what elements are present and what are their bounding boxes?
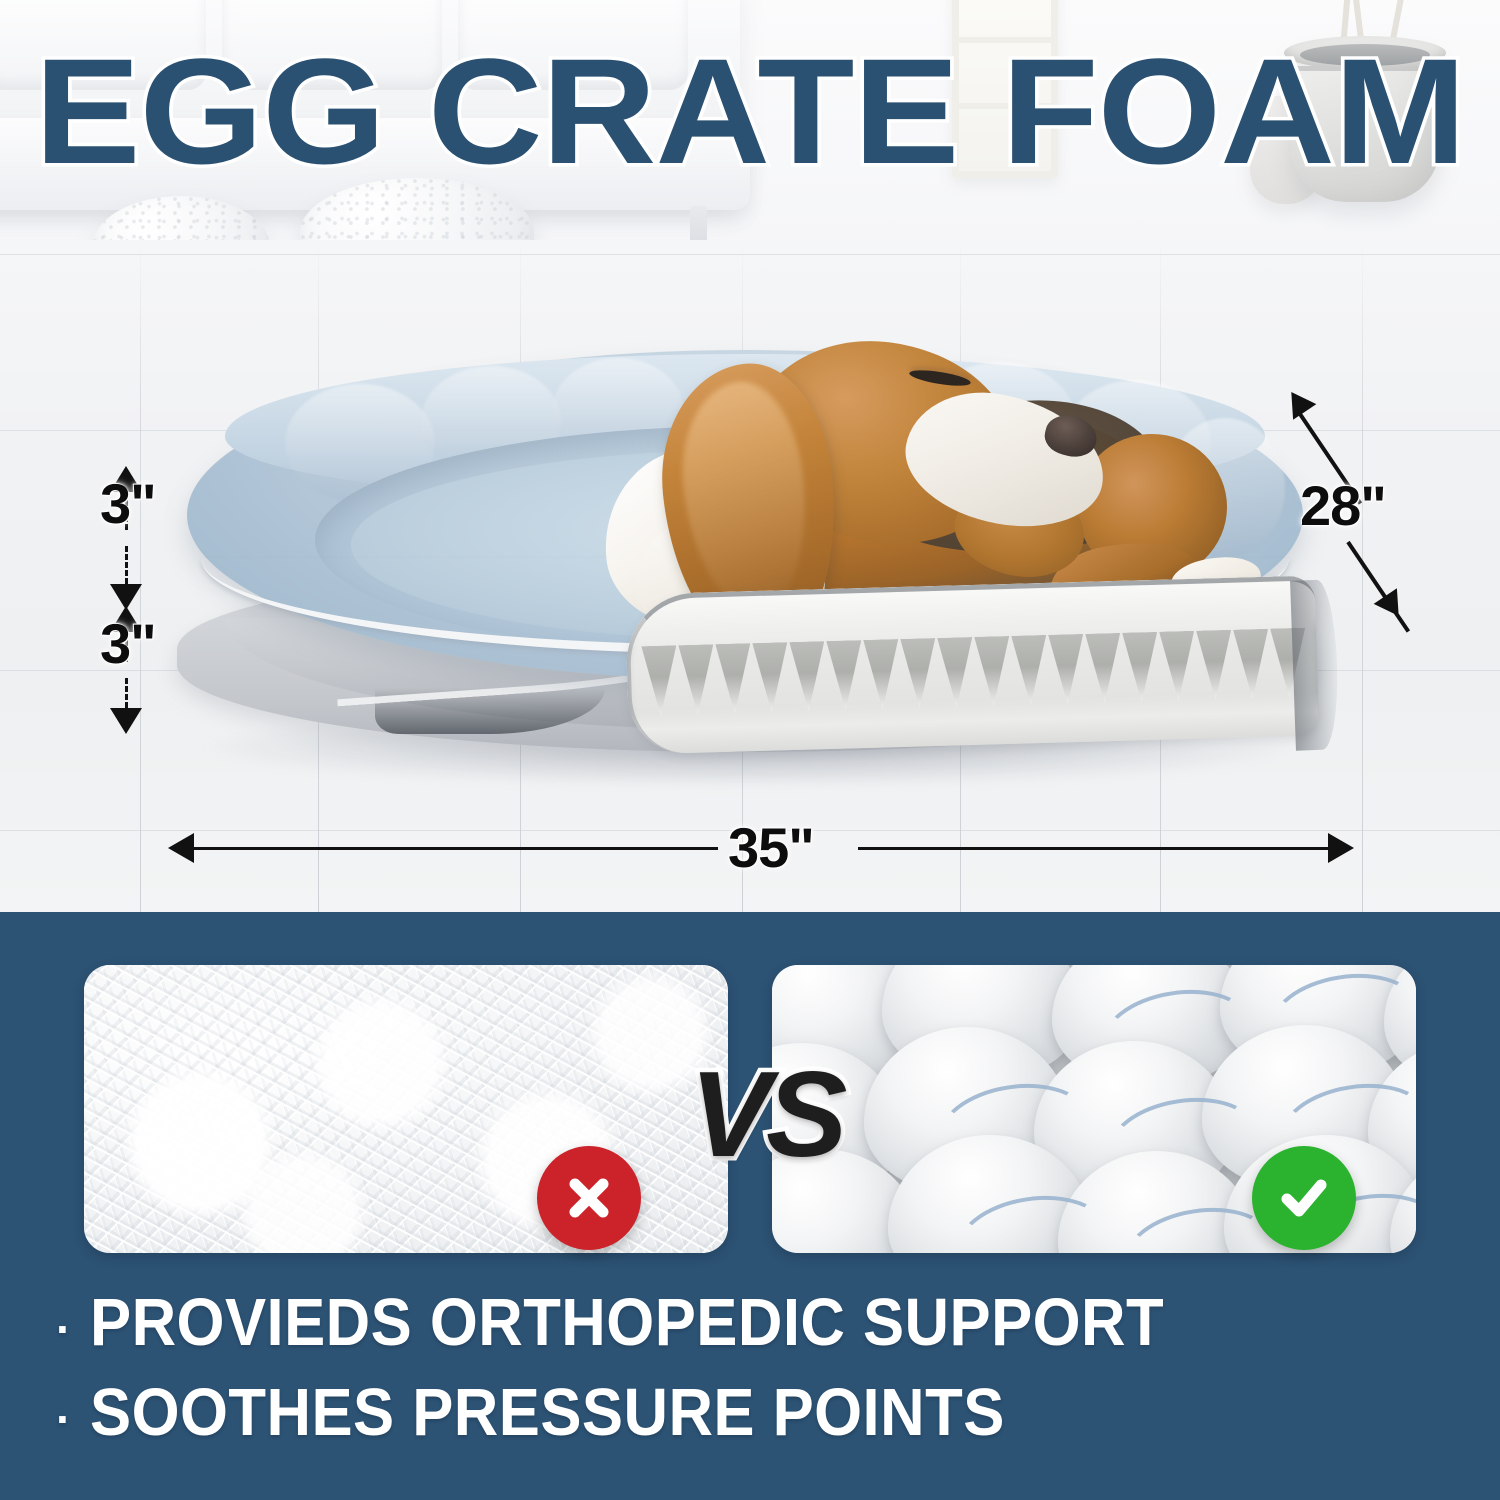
x-circle-icon bbox=[537, 1146, 641, 1250]
page-title-text: EGG CRATE FOAM bbox=[35, 36, 1466, 186]
dog-bed bbox=[165, 330, 1325, 800]
dimension-bolster-label: 3" bbox=[100, 476, 156, 532]
dimension-width-label: 35" bbox=[728, 820, 814, 876]
foam-cutaway bbox=[625, 575, 1319, 754]
dimension-mattress-label: 3" bbox=[100, 616, 156, 672]
benefit-text: PROVIEDS ORTHOPEDIC SUPPORT bbox=[90, 1281, 1164, 1365]
bullet-dot: · bbox=[56, 1377, 72, 1461]
benefit-text: SOOTHES PRESSURE POINTS bbox=[90, 1371, 1005, 1455]
product-infographic: 3" 3" 28" 35" EG bbox=[0, 0, 1500, 1500]
bullet-dot: · bbox=[56, 1287, 72, 1371]
benefits-list: · PROVIEDS ORTHOPEDIC SUPPORT · SOOTHES … bbox=[56, 1281, 1456, 1461]
benefit-item: · PROVIEDS ORTHOPEDIC SUPPORT bbox=[56, 1281, 1456, 1371]
vs-badge: VS bbox=[686, 1050, 846, 1180]
benefit-item: · SOOTHES PRESSURE POINTS bbox=[56, 1371, 1456, 1461]
check-circle-icon bbox=[1252, 1146, 1356, 1250]
dimension-depth-label: 28" bbox=[1300, 478, 1386, 534]
page-title: EGG CRATE FOAM bbox=[0, 36, 1500, 186]
